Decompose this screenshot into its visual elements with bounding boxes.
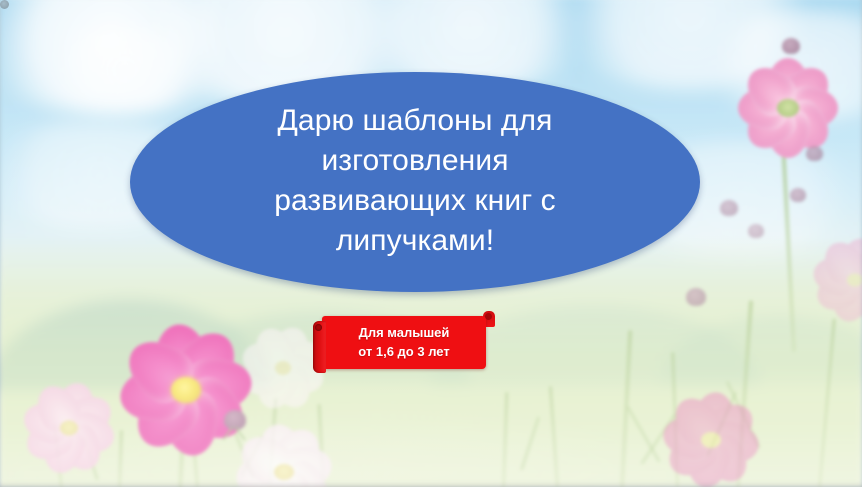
flower-bud-icon <box>806 146 823 161</box>
banner-body: Для малышей от 1,6 до 3 лет <box>322 316 486 369</box>
age-banner[interactable]: Для малышей от 1,6 до 3 лет <box>313 311 495 373</box>
flower-bud-icon <box>748 224 764 238</box>
banner-line-2: от 1,6 до 3 лет <box>358 343 449 361</box>
banner-roll-left <box>313 321 326 373</box>
meadow-haze-bottom <box>0 367 862 487</box>
flower-bud-icon <box>782 38 800 54</box>
flower-bud-icon <box>686 288 706 306</box>
slide-canvas: Дарю шаблоны для изготовления развивающи… <box>0 0 862 487</box>
banner-line-1: Для малышей <box>359 324 450 342</box>
headline-line-2: изготовления <box>215 141 615 181</box>
headline-line-1: Дарю шаблоны для <box>215 101 615 141</box>
flower-bud-icon <box>720 200 738 216</box>
headline-text: Дарю шаблоны для изготовления развивающи… <box>215 101 615 263</box>
flower-bud-icon <box>790 188 806 202</box>
headline-ellipse-shape[interactable]: Дарю шаблоны для изготовления развивающи… <box>130 72 700 292</box>
headline-line-4: липучками! <box>215 221 615 261</box>
headline-line-3: развивающих книг с <box>215 181 615 221</box>
corner-marker-icon <box>0 0 9 9</box>
